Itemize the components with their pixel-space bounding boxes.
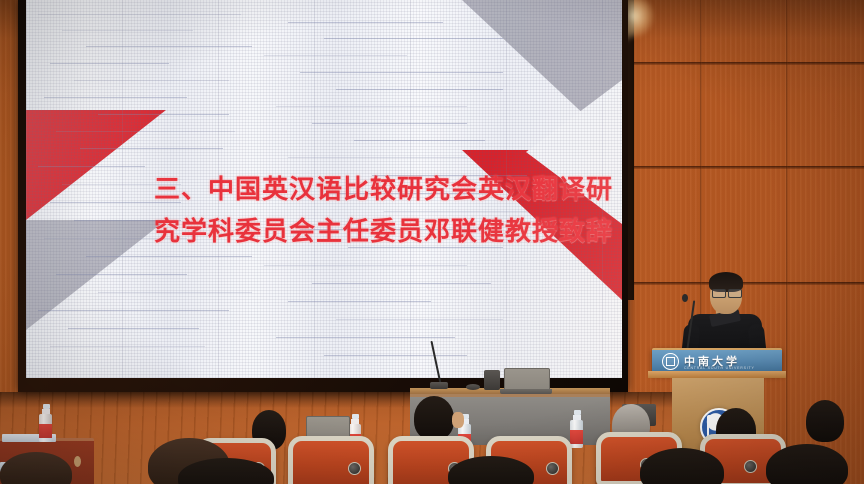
seat-hinge [546, 462, 559, 475]
audience-face [452, 412, 464, 428]
theater-seat[interactable] [288, 436, 374, 484]
seat-hinge [348, 462, 361, 475]
audience-head-foreground [0, 452, 72, 484]
seat-hinge [744, 460, 757, 473]
seat-backrest [288, 436, 374, 484]
computer-mouse[interactable] [466, 384, 480, 390]
laptop-base[interactable] [500, 389, 552, 394]
slide-gray-triangle-left [26, 220, 166, 330]
podium-microphone-head [682, 294, 688, 302]
slide-title-text: 三、中国英汉语比较研究会英汉翻译研 究学科委员会主任委员邓联健教授致辞 [154, 168, 622, 252]
podium-desk-edge [648, 371, 786, 378]
slide-title-line-2: 究学科委员会主任委员邓联健教授致辞 [154, 210, 622, 252]
audience-hair [414, 396, 454, 440]
audience-head-foreground [448, 456, 534, 484]
university-logo-icon [662, 353, 679, 370]
av-device [484, 370, 500, 390]
audience-head-foreground [766, 444, 848, 484]
led-presentation-screen[interactable]: 三、中国英汉语比较研究会英汉翻译研 究学科委员会主任委员邓联健教授致辞 [26, 0, 622, 378]
audience-head-foreground [178, 458, 274, 484]
audience-hair [178, 458, 274, 484]
podium-sign-subtext: CENTRAL SOUTH UNIVERSITY [684, 366, 755, 370]
water-bottle[interactable] [39, 404, 52, 442]
slide-red-triangle-left [26, 110, 166, 220]
audience-hair [766, 444, 848, 484]
side-table-handle[interactable] [74, 456, 81, 467]
audience-head [806, 400, 844, 442]
audience-hair-brown [0, 452, 72, 484]
audience-hair [806, 400, 844, 442]
speaker-glasses [712, 289, 726, 298]
audience-hair [640, 448, 724, 484]
slide-title-line-1: 三、中国英汉语比较研究会英汉翻译研 [154, 168, 622, 210]
audience-head-foreground [640, 448, 724, 484]
microphone-base [430, 382, 448, 389]
audience-hair [448, 456, 534, 484]
speaker-glasses [728, 289, 742, 298]
conference-hall-photo: 三、中国英汉语比较研究会英汉翻译研 究学科委员会主任委员邓联健教授致辞 中南大学… [0, 0, 864, 484]
bottle-body [39, 414, 52, 442]
bottle-label [39, 424, 52, 438]
audience-head [414, 396, 454, 440]
